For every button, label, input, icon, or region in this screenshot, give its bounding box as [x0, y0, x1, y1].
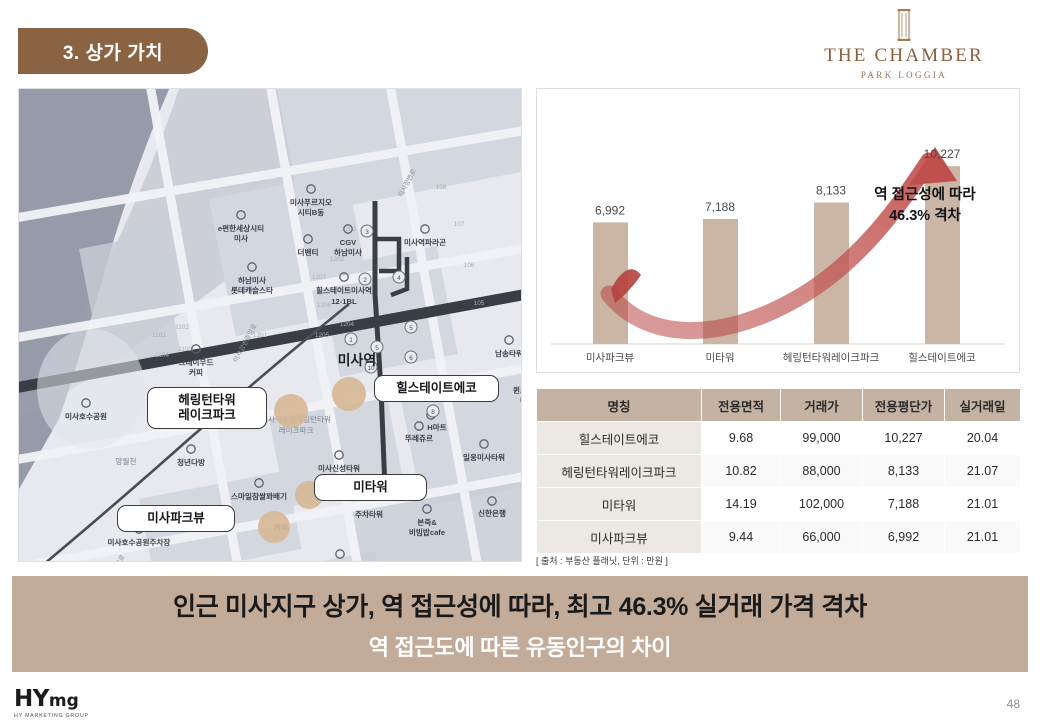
svg-text:105: 105	[474, 300, 485, 307]
svg-text:1204: 1204	[340, 321, 355, 328]
th-area: 전용면적	[702, 389, 781, 422]
price-bar-chart: 6,992 7,188 8,133 10,227 미사파크뷰 미타워 헤링턴타워…	[536, 88, 1020, 373]
cell-unit-price: 6,992	[863, 521, 945, 554]
callout-misaparkview[interactable]: 미사파크뷰	[117, 505, 235, 532]
marker-herington[interactable]	[274, 394, 308, 428]
cell-date: 20.04	[945, 422, 1021, 455]
svg-text:미사호수공원주차장: 미사호수공원주차장	[108, 537, 171, 547]
cell-unit-price: 7,188	[863, 488, 945, 521]
growth-arrow-icon	[609, 147, 957, 331]
svg-text:커피: 커피	[189, 367, 203, 377]
svg-text:1202: 1202	[330, 256, 345, 263]
svg-text:망월천: 망월천	[116, 456, 137, 466]
marker-misaparkview[interactable]	[258, 511, 290, 543]
company-logo-mg: mg	[49, 691, 79, 711]
svg-text:6,992: 6,992	[595, 203, 625, 217]
svg-text:신한은행: 신한은행	[478, 508, 506, 518]
table-row: 미타워 14.19 102,000 7,188 21.01	[537, 488, 1021, 521]
banner-subheadline: 역 접근도에 따른 유동인구의 차이	[369, 630, 671, 662]
svg-text:1101: 1101	[152, 332, 166, 339]
company-logo: HYmg HY MARKETING GROUP	[14, 688, 89, 719]
svg-text:1: 1	[349, 337, 353, 344]
svg-text:미사: 미사	[234, 233, 248, 243]
svg-text:그레이우드: 그레이우드	[179, 357, 214, 367]
svg-text:6: 6	[409, 355, 413, 362]
svg-text:1206: 1206	[317, 302, 332, 309]
lake-park-shape	[37, 329, 145, 449]
map-canvas[interactable]: 108107 106105 12031202 12071206 12041205…	[19, 89, 522, 562]
svg-text:1102: 1102	[175, 324, 189, 331]
page-number: 48	[1007, 697, 1020, 711]
svg-text:미사푸르지오: 미사푸르지오	[290, 197, 332, 207]
callout-hillstate[interactable]: 힐스테이트에코	[374, 375, 499, 402]
key-message-banner: 인근 미사지구 상가, 역 접근성에 따라, 최고 46.3% 실거래 가격 격…	[12, 576, 1028, 672]
svg-text:1205: 1205	[315, 332, 330, 339]
svg-text:7,188: 7,188	[705, 200, 735, 214]
table-row: 미사파크뷰 9.44 66,000 6,992 21.01	[537, 521, 1021, 554]
svg-text:일웅미사타워: 일웅미사타워	[463, 452, 505, 462]
svg-text:스마일참쌀꽈배기: 스마일참쌀꽈배기	[231, 491, 287, 501]
svg-text:10,227: 10,227	[924, 147, 961, 161]
table-row: 힐스테이트에코 9.68 99,000 10,227 20.04	[537, 422, 1021, 455]
cell-area: 9.44	[702, 521, 781, 554]
svg-text:12-1BL: 12-1BL	[331, 297, 357, 306]
svg-text:5: 5	[409, 325, 413, 332]
svg-text:1104: 1104	[155, 352, 169, 359]
cell-price: 99,000	[781, 422, 863, 455]
svg-text:H마트: H마트	[427, 422, 446, 432]
cell-name: 미사파크뷰	[537, 521, 702, 554]
company-logo-sub: HY MARKETING GROUP	[14, 713, 89, 719]
chart-category-labels: 미사파크뷰 미타워 헤링턴타워레이크파크 힐스테이트에코	[586, 351, 976, 364]
svg-text:CGV: CGV	[340, 238, 357, 247]
svg-text:8: 8	[431, 409, 435, 416]
th-date: 실거래일	[945, 389, 1021, 422]
svg-text:롯데캐슬스타: 롯데캐슬스타	[231, 285, 273, 295]
banner-headline: 인근 미사지구 상가, 역 접근성에 따라, 최고 46.3% 실거래 가격 격…	[173, 587, 867, 623]
chart-canvas: 6,992 7,188 8,133 10,227 미사파크뷰 미타워 헤링턴타워…	[537, 89, 1019, 372]
svg-text:미사: 미사	[520, 395, 522, 405]
svg-text:46.3% 격차: 46.3% 격차	[889, 206, 961, 224]
station-name-label: 미사역	[338, 352, 377, 368]
svg-text:힐스테이트미사역: 힐스테이트미사역	[316, 285, 372, 295]
svg-text:더벤티: 더벤티	[298, 247, 319, 257]
svg-text:역 접근성에 따라: 역 접근성에 따라	[874, 185, 976, 203]
svg-text:비빔밥cafe: 비빔밥cafe	[409, 527, 445, 537]
section-title-tab: 3. 상가 가치	[18, 28, 208, 74]
svg-text:하남미사: 하남미사	[238, 275, 266, 285]
svg-text:106: 106	[464, 262, 475, 269]
cell-name: 미타워	[537, 488, 702, 521]
cell-area: 14.19	[702, 488, 781, 521]
svg-text:108: 108	[436, 184, 447, 191]
svg-text:뚜레쥬르: 뚜레쥬르	[405, 433, 433, 443]
svg-text:1207: 1207	[312, 274, 327, 281]
cell-date: 21.01	[945, 488, 1021, 521]
svg-text:청년다방: 청년다방	[177, 457, 205, 467]
svg-text:힐스테이트에코: 힐스테이트에코	[908, 351, 976, 364]
slide-root: 3. 상가 가치 THE CHAMBER PARK LOGGIA	[0, 0, 1040, 720]
table-row: 헤링턴타워레이크파크 10.82 88,000 8,133 21.07	[537, 455, 1021, 488]
svg-text:주차타워: 주차타워	[355, 509, 383, 519]
svg-text:퀸즈파크: 퀸즈파크	[513, 385, 522, 395]
svg-text:미사역파라곤: 미사역파라곤	[404, 237, 446, 247]
company-logo-hy: HY	[14, 686, 49, 712]
cell-price: 88,000	[781, 455, 863, 488]
cell-unit-price: 10,227	[863, 422, 945, 455]
th-unit-price: 전용평단가	[863, 389, 945, 422]
brand-name: THE CHAMBER	[804, 45, 1004, 67]
cell-name: 힐스테이트에코	[537, 422, 702, 455]
cell-price: 66,000	[781, 521, 863, 554]
th-price: 거래가	[781, 389, 863, 422]
brand-subtitle: PARK LOGGIA	[804, 70, 1004, 80]
svg-text:8,133: 8,133	[816, 184, 846, 198]
cell-price: 102,000	[781, 488, 863, 521]
svg-text:남송타워: 남송타워	[495, 348, 522, 358]
svg-text:4: 4	[397, 275, 401, 282]
svg-text:헤링턴타워레이크파크: 헤링턴타워레이크파크	[783, 351, 880, 364]
svg-text:2: 2	[363, 277, 367, 284]
svg-text:107: 107	[454, 221, 465, 228]
table-source-note: [ 출처 : 부동산 플래닛, 단위 : 만원 ]	[536, 554, 668, 567]
svg-text:1201: 1201	[253, 332, 268, 339]
svg-text:미사신성타워: 미사신성타워	[318, 463, 360, 473]
cell-area: 9.68	[702, 422, 781, 455]
svg-text:시티B동: 시티B동	[298, 207, 324, 217]
svg-text:미사호수공원: 미사호수공원	[65, 411, 107, 421]
svg-text:1103: 1103	[178, 346, 192, 353]
cell-date: 21.07	[945, 455, 1021, 488]
svg-text:3: 3	[365, 229, 369, 236]
company-logo-main: HYmg	[14, 688, 89, 711]
svg-text:본죽&: 본죽&	[417, 518, 437, 527]
svg-text:e편한세상시티: e편한세상시티	[218, 223, 264, 233]
cell-unit-price: 8,133	[863, 455, 945, 488]
svg-text:5: 5	[375, 345, 379, 352]
section-title-text: 3. 상가 가치	[63, 38, 163, 65]
column-pillar-icon	[894, 8, 914, 42]
cell-area: 10.82	[702, 455, 781, 488]
map-panel[interactable]: 108107 106105 12031202 12071206 12041205…	[18, 88, 522, 562]
transactions-table: 명칭 전용면적 거래가 전용평단가 실거래일 힐스테이트에코 9.68 99,0…	[536, 388, 1020, 554]
cell-date: 21.01	[945, 521, 1021, 554]
marker-hillstate[interactable]	[332, 377, 366, 411]
svg-text:하남미사: 하남미사	[334, 247, 362, 257]
th-name: 명칭	[537, 389, 702, 422]
svg-text:미타워: 미타워	[706, 351, 735, 364]
brand-logo: THE CHAMBER PARK LOGGIA	[804, 8, 1004, 80]
cell-name: 헤링턴타워레이크파크	[537, 455, 702, 488]
callout-herington[interactable]: 헤링턴타워 레이크파크	[147, 387, 267, 429]
svg-text:미사파크뷰: 미사파크뷰	[586, 352, 635, 364]
callout-mitower[interactable]: 미타워	[314, 474, 427, 501]
table-header-row: 명칭 전용면적 거래가 전용평단가 실거래일	[537, 389, 1021, 422]
